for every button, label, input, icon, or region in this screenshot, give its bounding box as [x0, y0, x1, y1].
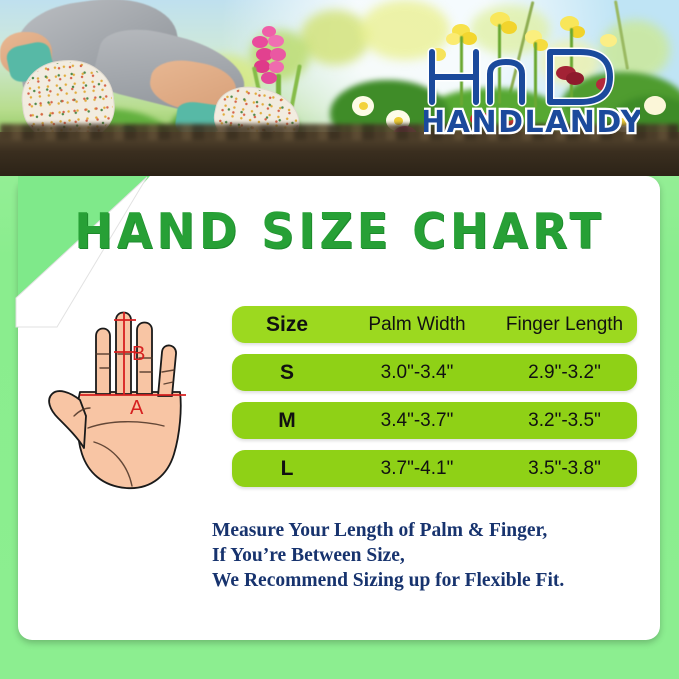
hand-measurement-diagram: B A — [36, 296, 216, 504]
page-title: HAND SIZE CHART — [0, 202, 679, 259]
handlandy-logo: HANDLANDY — [424, 40, 640, 136]
table-header-row: Size Palm Width Finger Length — [232, 306, 637, 343]
sizing-note: Measure Your Length of Palm & Finger, If… — [212, 518, 642, 593]
cell-size: S — [232, 361, 342, 385]
svg-text:HANDLANDY: HANDLANDY — [424, 105, 640, 136]
header-finger-length: Finger Length — [492, 314, 637, 336]
table-row: M 3.4"-3.7" 3.2"-3.5" — [232, 402, 637, 439]
size-chart-page: HANDLANDY HAND SIZE CHART — [0, 0, 679, 679]
size-table: Size Palm Width Finger Length S 3.0"-3.4… — [232, 306, 637, 498]
header-photo: HANDLANDY — [0, 0, 679, 176]
cell-palm-width: 3.7"-4.1" — [342, 458, 492, 480]
cell-palm-width: 3.0"-3.4" — [342, 362, 492, 384]
cell-finger-length: 2.9"-3.2" — [492, 362, 637, 384]
note-line-2: If You’re Between Size, — [212, 543, 642, 568]
cell-finger-length: 3.2"-3.5" — [492, 410, 637, 432]
table-row: S 3.0"-3.4" 2.9"-3.2" — [232, 354, 637, 391]
label-palm-width: A — [130, 397, 144, 419]
label-finger-length: B — [132, 343, 145, 365]
cell-size: L — [232, 457, 342, 481]
note-line-1: Measure Your Length of Palm & Finger, — [212, 518, 642, 543]
cell-size: M — [232, 409, 342, 433]
header-size: Size — [232, 313, 342, 337]
cell-palm-width: 3.4"-3.7" — [342, 410, 492, 432]
soil-strip — [0, 132, 679, 176]
header-palm-width: Palm Width — [342, 314, 492, 336]
note-line-3: We Recommend Sizing up for Flexible Fit. — [212, 568, 642, 593]
cell-finger-length: 3.5"-3.8" — [492, 458, 637, 480]
table-row: L 3.7"-4.1" 3.5"-3.8" — [232, 450, 637, 487]
